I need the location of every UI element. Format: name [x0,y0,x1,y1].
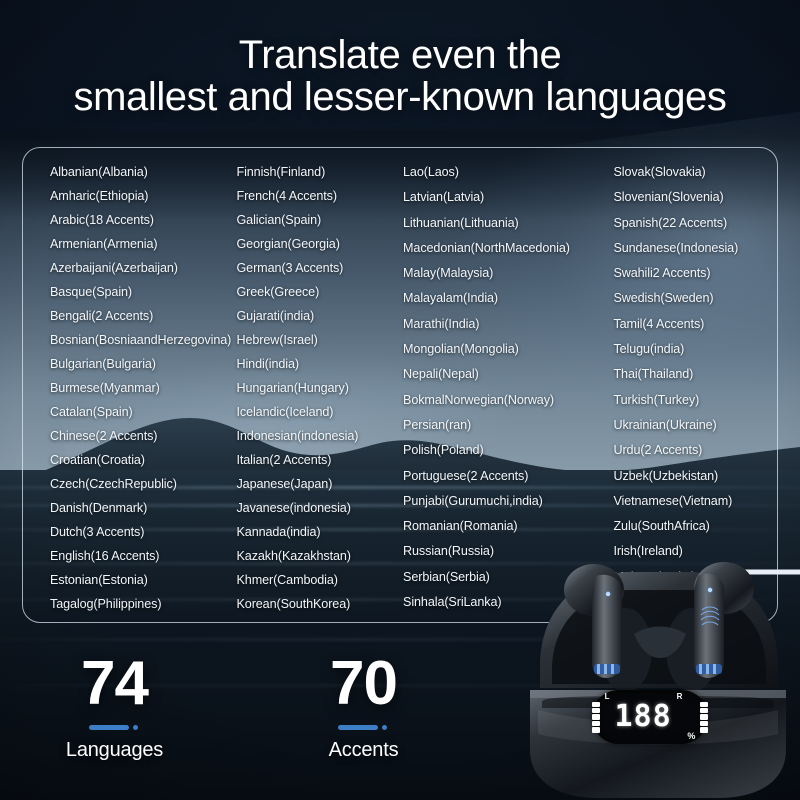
language-item: Bosnian(BosniaandHerzegovina) [50,334,236,358]
page-title-line-2: smallest and lesser-known languages [0,76,800,118]
language-item: Malayalam(India) [403,292,613,317]
language-item: Persian(ran) [403,419,613,444]
language-item: Urdu(2 Accents) [613,444,777,469]
battery-percent-digits: 188 [614,702,671,732]
language-item: Amharic(Ethiopia) [50,190,236,214]
stat-rule-dot [133,725,138,730]
stats-row: 74 Languages 70 Accents [42,653,436,762]
language-item: Estonian(Estonia) [50,574,236,598]
language-item: Tagalog(Philippines) [50,598,236,622]
language-item: Marathi(India) [403,318,613,343]
language-item: Ukrainian(Ukraine) [613,419,777,444]
language-item: German(3 Accents) [236,262,403,286]
right-channel-label: R [677,692,683,701]
language-item: Korean(SouthKorea) [236,598,403,622]
language-item: Finnish(Finland) [236,166,403,190]
language-item: Catalan(Spain) [50,406,236,430]
language-column-2: Finnish(Finland)French(4 Accents)Galicia… [236,166,403,622]
language-item: Italian(2 Accents) [236,454,403,478]
stat-rule [338,725,390,730]
right-battery-bars [700,702,708,733]
language-item: Telugu(india) [613,343,777,368]
stat-value: 74 [42,653,187,715]
language-item: Mongolian(Mongolia) [403,343,613,368]
language-item: Arabic(18 Accents) [50,214,236,238]
language-item: Tamil(4 Accents) [613,318,777,343]
language-item: Georgian(Georgia) [236,238,403,262]
stat-label: Languages [42,739,187,762]
language-column-1: Albanian(Albania)Amharic(Ethiopia)Arabic… [23,166,236,622]
language-item: Hebrew(Israel) [236,334,403,358]
page-title-line-1: Translate even the [239,33,562,77]
language-item: English(16 Accents) [50,550,236,574]
page-title: Translate even the smallest and lesser-k… [0,34,800,119]
language-item: Swahili2 Accents) [613,267,777,292]
language-item: Gujarati(india) [236,310,403,334]
language-item: Burmese(Myanmar) [50,382,236,406]
language-item: Javanese(indonesia) [236,502,403,526]
stat-rule [89,725,141,730]
left-battery-bars [592,702,600,733]
stat-rule-bar [89,725,129,730]
language-item: French(4 Accents) [236,190,403,214]
language-item: BokmalNorwegian(Norway) [403,394,613,419]
battery-display: L 188 R % [592,690,708,744]
stat-value: 70 [291,653,436,715]
language-item: Macedonian(NorthMacedonia) [403,242,613,267]
language-item: Sundanese(Indonesia) [613,242,777,267]
language-item: Chinese(2 Accents) [50,430,236,454]
earbuds-product-image: L 188 R % [522,538,794,800]
language-item: Croatian(Croatia) [50,454,236,478]
percent-symbol: % [687,731,695,741]
stat-accents: 70 Accents [291,653,436,762]
language-item: Slovak(Slovakia) [613,166,777,191]
language-item: Nepali(Nepal) [403,368,613,393]
language-item: Greek(Greece) [236,286,403,310]
language-item: Polish(Poland) [403,444,613,469]
language-item: Turkish(Turkey) [613,394,777,419]
language-item: Lao(Laos) [403,166,613,191]
language-item: Indonesian(indonesia) [236,430,403,454]
left-channel-label: L [605,692,610,701]
language-item: Dutch(3 Accents) [50,526,236,550]
language-item: Thai(Thailand) [613,368,777,393]
language-item: Spanish(22 Accents) [613,217,777,242]
language-item: Swedish(Sweden) [613,292,777,317]
stat-rule-dot [382,725,387,730]
language-item: Uzbek(Uzbekistan) [613,470,777,495]
language-item: Hungarian(Hungary) [236,382,403,406]
stat-rule-bar [338,725,378,730]
language-item: Vietnamese(Vietnam) [613,495,777,520]
language-item: Lithuanian(Lithuania) [403,217,613,242]
language-item: Slovenian(Slovenia) [613,191,777,216]
language-item: Azerbaijani(Azerbaijan) [50,262,236,286]
language-item: Malay(Malaysia) [403,267,613,292]
language-item: Khmer(Cambodia) [236,574,403,598]
language-item: Latvian(Latvia) [403,191,613,216]
stat-languages: 74 Languages [42,653,187,762]
language-item: Danish(Denmark) [50,502,236,526]
language-item: Basque(Spain) [50,286,236,310]
language-item: Kazakh(Kazakhstan) [236,550,403,574]
language-item: Icelandic(Iceland) [236,406,403,430]
stat-label: Accents [291,739,436,762]
language-item: Galician(Spain) [236,214,403,238]
language-item: Bulgarian(Bulgaria) [50,358,236,382]
language-item: Bengali(2 Accents) [50,310,236,334]
language-item: Portuguese(2 Accents) [403,470,613,495]
language-item: Hindi(india) [236,358,403,382]
language-item: Czech(CzechRepublic) [50,478,236,502]
language-item: Punjabi(Gurumuchi,india) [403,495,613,520]
language-item: Japanese(Japan) [236,478,403,502]
language-item: Kannada(india) [236,526,403,550]
language-item: Albanian(Albania) [50,166,236,190]
language-item: Armenian(Armenia) [50,238,236,262]
